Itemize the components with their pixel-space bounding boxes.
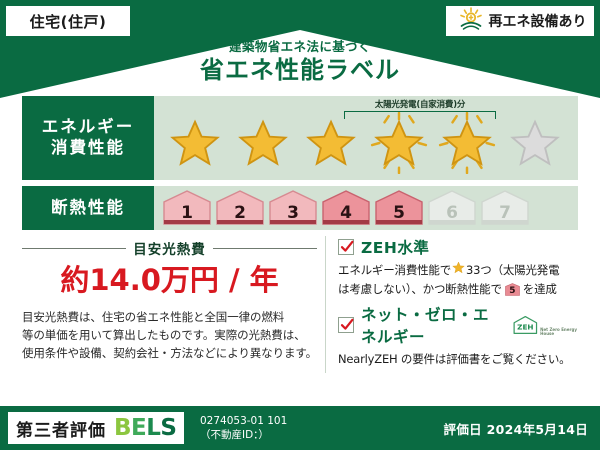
housing-type-badge: 住宅(住戸) [6,6,130,36]
label-content: エネルギー 消費性能 太陽光発電(自家消費)分 [22,96,578,373]
zeh-body-text-b: 3つ（太陽光発電 [473,261,559,280]
svg-text:ZEH: ZEH [518,322,534,331]
real-estate-id: （不動産ID：） [200,428,287,442]
renewable-equipment-badge: 再エネ設備あり [446,6,594,36]
zeh-logo-icon: ZEH [513,312,538,338]
energy-performance-label: 住宅(住戸) 再エネ設備あり 建築物省エネ法に基づく 省エネ性能ラベル [0,0,600,450]
net-zero-title: ネット・ゼロ・エネルギー [361,303,501,347]
insulation-grade-5: 5 [374,190,424,226]
insulation-grade-scale: 1 2 3 4 5 6 7 [162,190,530,226]
bels-id-block: 0274053-01 101 （不動産ID：） [200,414,287,442]
insulation-grade-2: 2 [215,190,265,226]
energy-performance-value: 太陽光発電(自家消費)分 [154,96,578,180]
insulation-performance-row: 断熱性能 1 2 3 4 5 [22,186,578,230]
renewable-equipment-label: 再エネ設備あり [489,11,587,31]
housing-type-label: 住宅(住戸) [30,11,107,32]
star-icon [162,112,228,174]
energy-star-1 [162,112,228,174]
insulation-grade-label: 2 [215,205,265,222]
utility-cost-note-line1: 目安光熱費は、住宅の省エネ性能と全国一律の燃料 [22,309,317,327]
energy-star-rating [162,112,568,174]
evaluation-date-value: 2024年5月14日 [487,422,588,437]
net-zero-title-row: ネット・ゼロ・エネルギー ZEH Net Zero Energy House [338,303,578,347]
inline-house-grade-icon: 5 [505,283,520,296]
insulation-performance-value: 1 2 3 4 5 6 7 [154,186,578,230]
insulation-grade-4: 4 [321,190,371,226]
bels-letter-b: B [114,415,131,441]
star-icon [502,112,568,174]
utility-cost-heading-label: 目安光熱費 [133,238,206,258]
inline-house-grade-label: 5 [505,287,520,296]
insulation-grade-label: 1 [162,205,212,222]
utility-cost-note: 目安光熱費は、住宅の省エネ性能と全国一律の燃料 等の単価を用いて算出したものです… [22,309,317,362]
label-title-block: 建築物省エネ法に基づく 省エネ性能ラベル [0,40,600,83]
sun-solar-icon [458,7,484,35]
zeh-inline-star-count: 3 [466,261,473,280]
zeh-standard-title: ZEH水準 [361,236,429,258]
zeh-body-text-c: は考慮しない）、かつ断熱性能で [338,280,502,299]
zeh-standard-body-line1: エネルギー消費性能で 3 3つ（太陽光発電 [338,261,578,280]
zeh-standard-block: ZEH水準 エネルギー消費性能で 3 3つ（太陽光発電 [338,236,578,299]
heading-rule-left [22,248,126,249]
footer-bar: 第三者評価 BELS 0274053-01 101 （不動産ID：） 評価日 2… [0,406,600,450]
insulation-grade-label: 7 [480,205,530,222]
check-icon [340,318,354,332]
title-subtitle: 建築物省エネ法に基づく [0,40,600,54]
zeh-house-logo: ZEH Net Zero Energy House [513,312,578,338]
zeh-body-text-a: エネルギー消費性能で [338,261,451,280]
solar-self-consumption-note: 太陽光発電(自家消費)分 [336,98,504,110]
bels-id-number: 0274053-01 101 [200,414,287,428]
energy-star-5 [434,112,500,174]
insulation-key-label: 断熱性能 [51,198,125,219]
evaluation-date: 評価日 2024年5月14日 [444,419,588,438]
energy-star-3 [298,112,364,174]
insulation-grade-6: 6 [427,190,477,226]
net-zero-checkbox[interactable] [338,317,354,333]
energy-star-2 [230,112,296,174]
heading-rule-right [213,248,317,249]
energy-performance-row: エネルギー 消費性能 太陽光発電(自家消費)分 [22,96,578,180]
star-icon [434,112,500,174]
star-icon [230,112,296,174]
insulation-performance-key: 断熱性能 [22,186,154,230]
check-icon [340,240,354,254]
zeh-standard-checkbox[interactable] [338,239,354,255]
utility-cost-value: 約14.0万円 / 年 [22,265,317,295]
zeh-standard-body-line2: は考慮しない）、かつ断熱性能で 5 を達成 [338,280,578,299]
insulation-grade-label: 6 [427,205,477,222]
zeh-body-text-d: を達成 [523,280,557,299]
energy-star-6 [502,112,568,174]
lower-panels: 目安光熱費 約14.0万円 / 年 目安光熱費は、住宅の省エネ性能と全国一律の燃… [22,236,578,373]
insulation-grade-3: 3 [268,190,318,226]
insulation-grade-label: 4 [321,205,371,222]
net-zero-body-line1: NearlyZEH の要件は評価書をご覧ください。 [338,350,578,369]
utility-cost-note-line3: 使用条件や設備、契約会社・方法などにより異なります。 [22,345,317,363]
bels-letter-l: L [146,415,160,441]
bels-plate: 第三者評価 BELS [8,412,184,444]
star-icon [366,112,432,174]
zeh-standard-title-row: ZEH水準 [338,236,578,258]
net-zero-body: NearlyZEH の要件は評価書をご覧ください。 [338,350,578,369]
utility-cost-note-line2: 等の単価を用いて算出したものです。実際の光熱費は、 [22,327,317,345]
utility-cost-panel: 目安光熱費 約14.0万円 / 年 目安光熱費は、住宅の省エネ性能と全国一律の燃… [22,236,325,373]
net-zero-energy-block: ネット・ゼロ・エネルギー ZEH Net Zero Energy House N… [338,303,578,369]
energy-key-line2: 消費性能 [51,138,125,159]
evaluation-date-label: 評価日 [444,422,482,437]
page-title: 省エネ性能ラベル [0,57,600,83]
insulation-grade-7: 7 [480,190,530,226]
bels-logo: BELS [114,417,176,440]
zeh-standard-body: エネルギー消費性能で 3 3つ（太陽光発電 は考慮しない）、かつ断熱性能で [338,261,578,299]
energy-performance-key: エネルギー 消費性能 [22,96,154,180]
energy-key-line1: エネルギー [42,117,135,138]
inline-star-icon [452,261,465,280]
third-party-evaluation-label: 第三者評価 [16,416,106,441]
utility-cost-heading: 目安光熱費 [22,238,317,258]
zeh-panel: ZEH水準 エネルギー消費性能で 3 3つ（太陽光発電 [325,236,578,373]
insulation-grade-1: 1 [162,190,212,226]
star-icon [298,112,364,174]
energy-star-4 [366,112,432,174]
insulation-grade-label: 3 [268,205,318,222]
insulation-grade-label: 5 [374,205,424,222]
bels-letter-s: S [160,415,176,441]
bels-letter-e: E [131,415,146,441]
zeh-logo-subtext: Net Zero Energy House [540,328,578,338]
